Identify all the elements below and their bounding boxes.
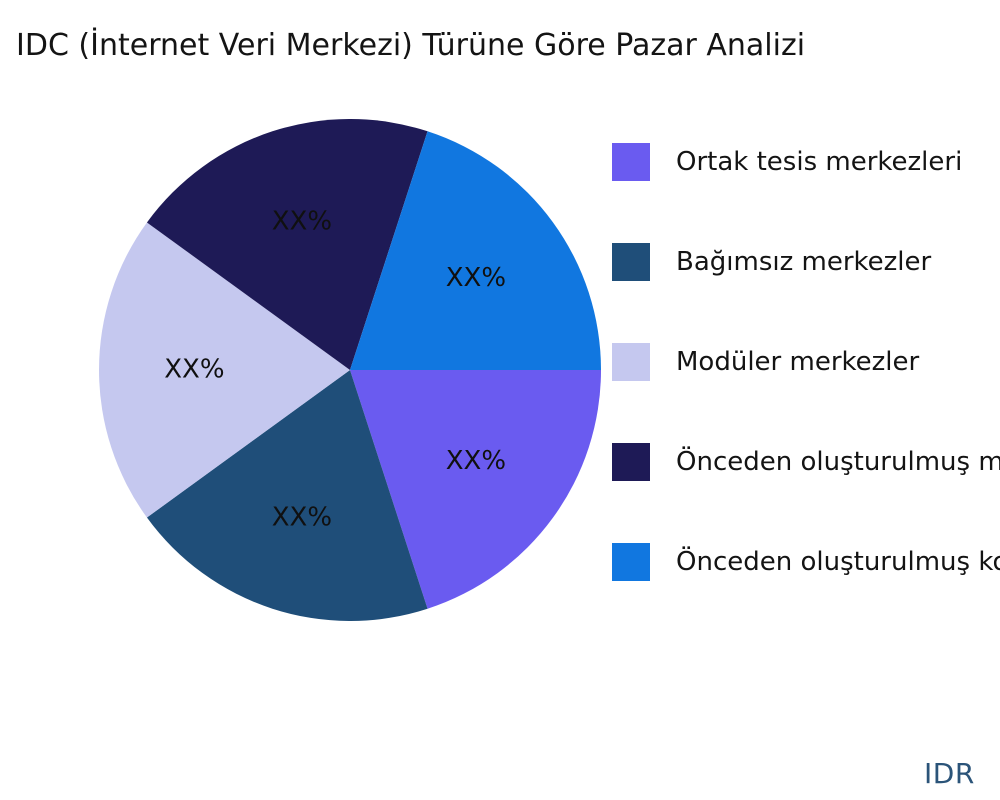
legend-swatch-ortak-tesis-merkezleri [612,143,650,181]
watermark-idr: IDR [924,757,975,790]
pie-chart-plot-area: XX%XX%XX%XX%XX% [99,119,601,621]
pie-slice-value-label: XX% [446,263,506,293]
legend-item[interactable]: Önceden oluşturulmuş konteyner merkezler… [612,512,1000,612]
legend-swatch-moduler-merkezler [612,343,650,381]
legend-item[interactable]: Ortak tesis merkezleri [612,112,1000,212]
legend-swatch-onceden-olusturulmus-merkezler [612,443,650,481]
legend-item[interactable]: Önceden oluşturulmuş merkezler [612,412,1000,512]
legend-swatch-bagimsiz-merkezler [612,243,650,281]
legend: Ortak tesis merkezleriBağımsız merkezler… [612,112,1000,612]
legend-item[interactable]: Modüler merkezler [612,312,1000,412]
page-title: IDC (İnternet Veri Merkezi) Türüne Göre … [16,26,976,66]
pie-svg: XX%XX%XX%XX%XX% [99,119,601,621]
pie-slice-value-label: XX% [164,355,224,385]
legend-item[interactable]: Bağımsız merkezler [612,212,1000,312]
legend-swatch-onceden-olusturulmus-konteyner-merkezleri [612,543,650,581]
legend-item-label: Modüler merkezler [676,347,919,377]
pie-slice-value-label: XX% [272,503,332,533]
pie-slice-value-label: XX% [272,207,332,237]
pie-chart-figure: IDC (İnternet Veri Merkezi) Türüne Göre … [0,0,1000,800]
legend-item-label: Önceden oluşturulmuş konteyner merkezler… [676,547,1000,577]
legend-item-label: Ortak tesis merkezleri [676,147,962,177]
pie-slice-value-label: XX% [446,446,506,476]
legend-item-label: Bağımsız merkezler [676,247,931,277]
legend-item-label: Önceden oluşturulmuş merkezler [676,447,1000,477]
